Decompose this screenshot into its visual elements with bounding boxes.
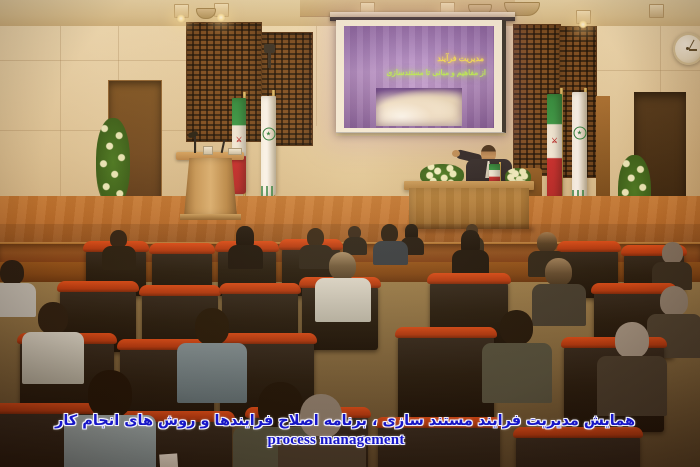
head-table-front [409, 188, 529, 229]
organization-flag: ★ [261, 96, 276, 196]
lectern-body [184, 158, 237, 216]
spotlight-glow-icon [578, 20, 588, 29]
ceiling-spotlight [649, 4, 664, 18]
flower-arrangement [96, 118, 130, 206]
wall-clock [673, 33, 700, 65]
seat [398, 330, 494, 420]
slide-image [376, 88, 462, 126]
iran-flag: ⚔ [547, 94, 562, 200]
attendee-notepad [159, 453, 179, 467]
microphone-stem [194, 136, 196, 153]
lectern-item [228, 148, 242, 155]
iran-flag: ⚔ [232, 98, 246, 194]
spotlight-glow-icon [216, 13, 226, 22]
spotlight-glow-icon [176, 14, 186, 23]
flag-fringe [261, 186, 276, 196]
projector-screen: مدیریت فرآیند از مفاهیم و مبانی تا مستند… [344, 26, 494, 128]
slide-title: مدیریت فرآیند [437, 54, 484, 63]
organization-flag-emblem: ★ [573, 127, 586, 140]
clock-center-pin [686, 47, 689, 50]
speaker-hand [452, 150, 460, 157]
seat [378, 420, 500, 467]
audience-area [0, 224, 700, 467]
camera-bracket [268, 52, 271, 68]
seat [516, 430, 640, 467]
acoustic-grille-panel [186, 22, 262, 142]
organization-flag-emblem: ★ [262, 128, 275, 141]
iran-flag-emblem: ⚔ [551, 137, 557, 145]
organization-flag: ★ [572, 92, 587, 200]
slide-subtitle: از مفاهیم و مبانی تا مستندسازی [386, 68, 486, 77]
wall-seam [0, 60, 200, 61]
lectern-item [203, 146, 213, 155]
door-jamb [596, 96, 610, 204]
conference-hall-photo: مدیریت فرآیند از مفاهیم و مبانی تا مستند… [0, 0, 700, 467]
lectern-base [180, 214, 241, 220]
iran-flag-emblem: ⚔ [236, 136, 242, 144]
wall-seam [316, 26, 317, 126]
wall-seam [590, 70, 700, 71]
